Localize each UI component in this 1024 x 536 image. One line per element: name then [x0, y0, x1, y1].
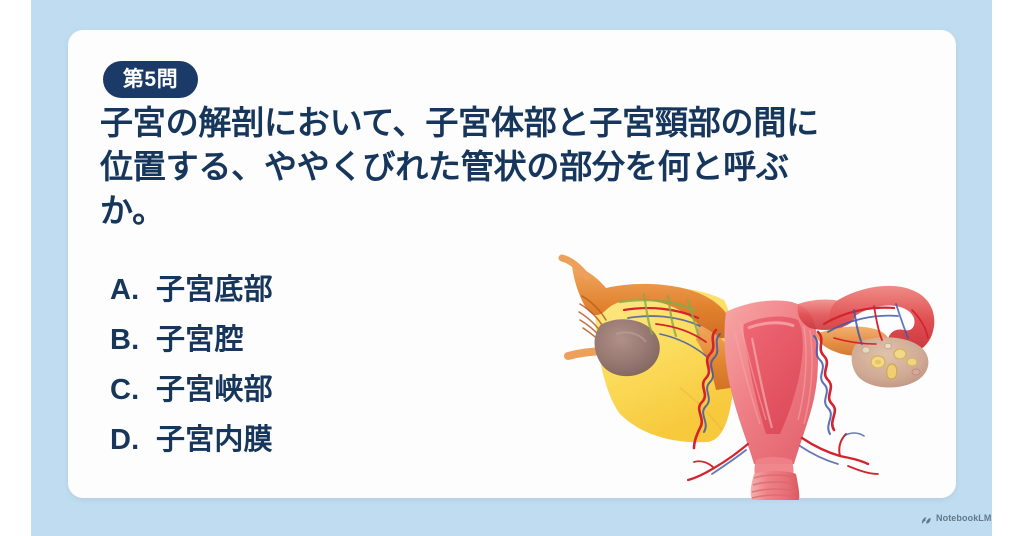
answer-choice-a-label: 子宮底部 [156, 266, 273, 308]
notebooklm-label: NotebookLM [936, 514, 992, 523]
question-number-label: 第5問 [123, 69, 178, 90]
question-number-badge: 第5問 [103, 61, 198, 98]
question-line-2: 位置する、ややくびれた管状の部分を何と呼ぶ [100, 145, 950, 189]
answer-choice-d-letter: D. [110, 424, 156, 457]
answer-choice-b-letter: B. [110, 324, 156, 357]
notebooklm-icon [921, 513, 932, 524]
question-line-1: 子宮の解剖において、子宮体部と子宮頸部の間に [100, 101, 950, 145]
answer-choice-b-label: 子宮腔 [156, 316, 244, 358]
answer-choice-a[interactable]: A. 子宮底部 [110, 266, 540, 316]
question-text: 子宮の解剖において、子宮体部と子宮頸部の間に 位置する、ややくびれた管状の部分を… [100, 101, 950, 233]
answer-choice-b[interactable]: B. 子宮腔 [110, 316, 540, 366]
answer-choice-c-label: 子宮峡部 [156, 366, 273, 408]
uterus-anatomy-illustration [548, 238, 940, 500]
question-line-3: か。 [100, 189, 950, 233]
slide-screen: 第5問 子宮の解剖において、子宮体部と子宮頸部の間に 位置する、ややくびれた管状… [0, 0, 1024, 536]
answer-choice-a-letter: A. [110, 274, 156, 307]
answer-choice-list: A. 子宮底部 B. 子宮腔 C. 子宮峡部 D. 子宮内膜 [110, 266, 540, 466]
notebooklm-watermark: NotebookLM [921, 513, 992, 524]
answer-choice-c-letter: C. [110, 374, 156, 407]
answer-choice-d[interactable]: D. 子宮内膜 [110, 416, 540, 466]
answer-choice-c[interactable]: C. 子宮峡部 [110, 366, 540, 416]
answer-choice-d-label: 子宮内膜 [156, 416, 273, 458]
